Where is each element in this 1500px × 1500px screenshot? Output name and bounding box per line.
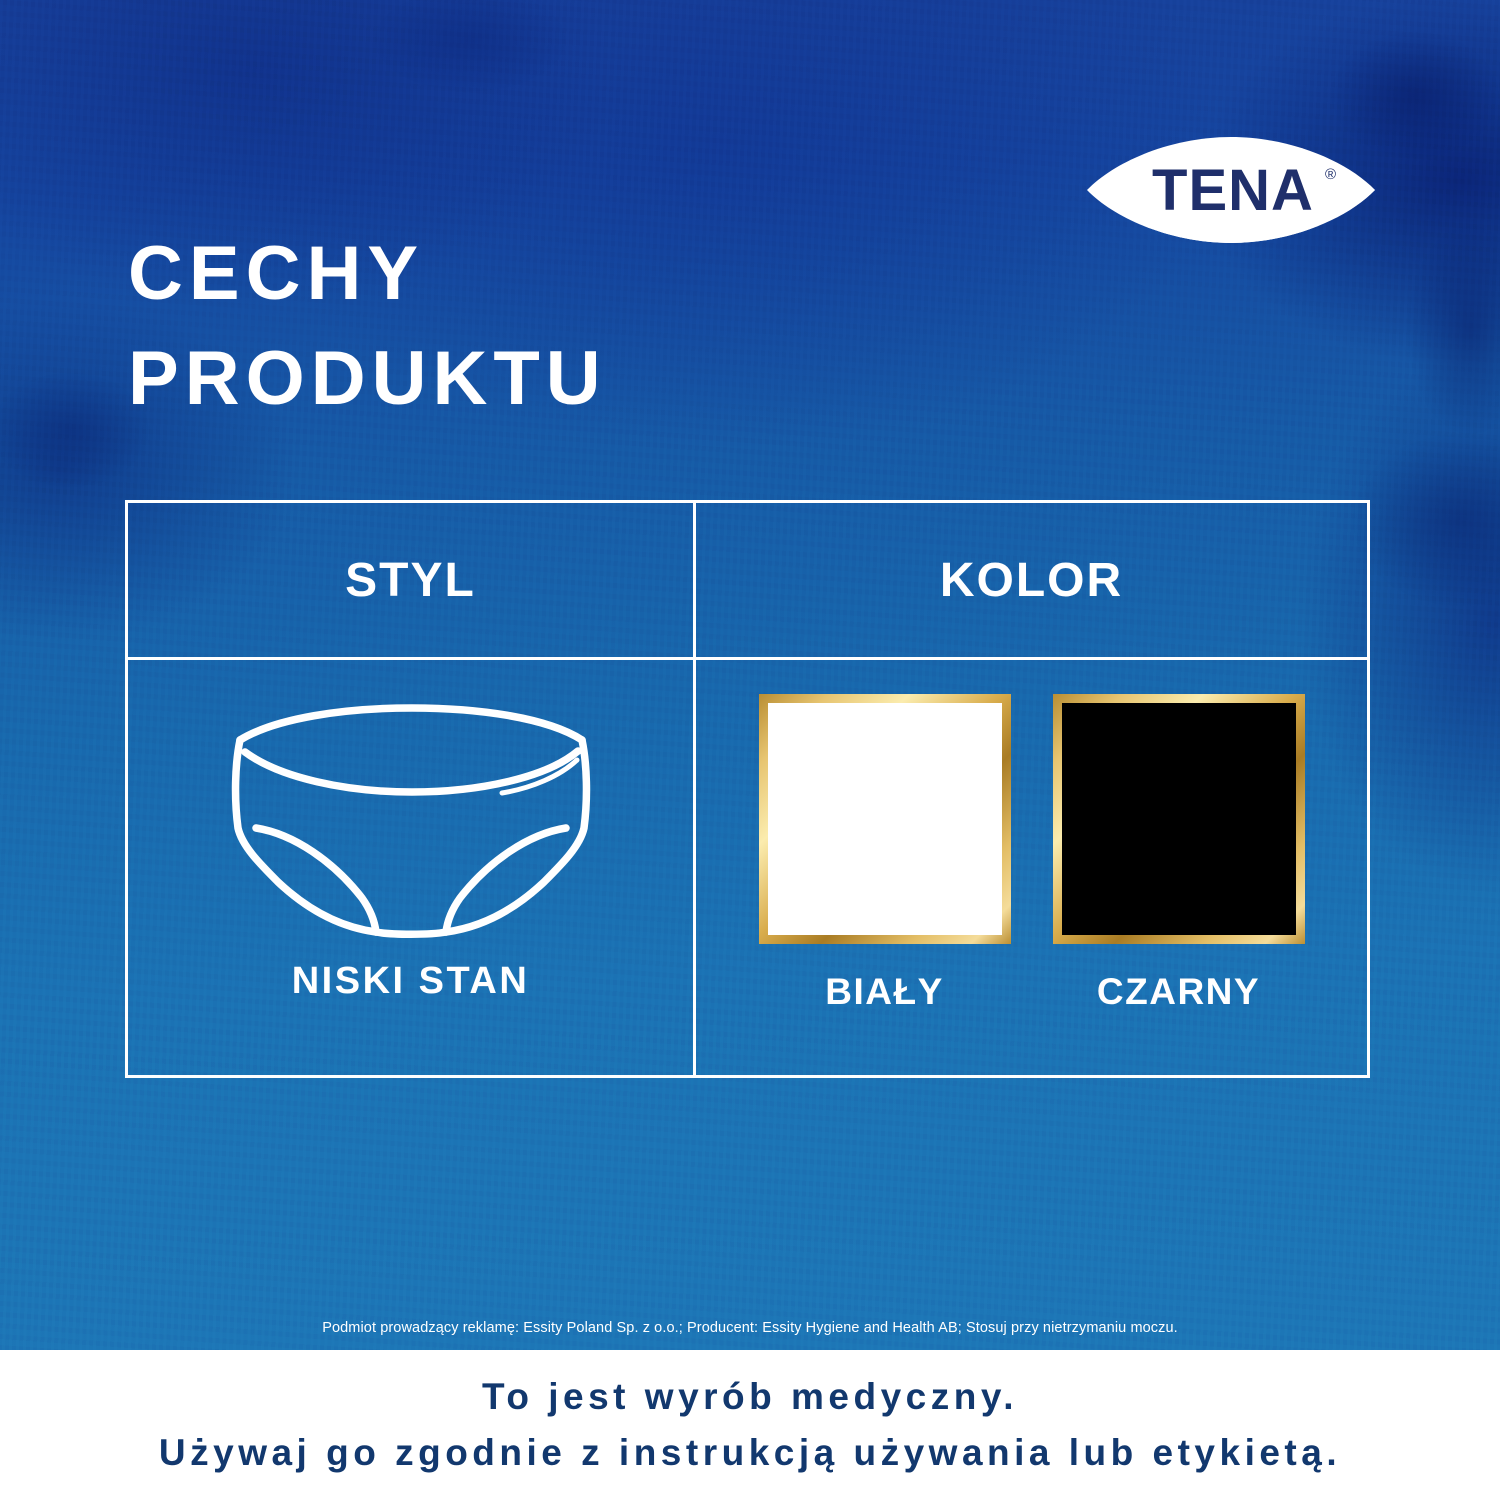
swatch-label-black: CZARNY <box>1097 971 1260 1013</box>
swatch-fill-white <box>768 703 1002 935</box>
tena-logo: TENA ® <box>1085 133 1377 247</box>
table-header-kolor-label: KOLOR <box>940 553 1123 608</box>
features-table: STYL KOLOR <box>125 500 1370 1078</box>
page-title-line1: CECHY <box>128 222 1028 327</box>
table-cell-kolor: BIAŁY CZARNY <box>696 660 1367 1075</box>
tena-logo-text: TENA <box>1152 158 1314 223</box>
legal-fineprint: Podmiot prowadzący reklamę: Essity Polan… <box>0 1320 1500 1336</box>
color-swatch-black[interactable]: CZARNY <box>1053 694 1305 1013</box>
disclaimer-line-1: To jest wyrób medyczny. <box>482 1369 1018 1425</box>
styl-caption: NISKI STAN <box>128 960 693 1003</box>
table-header-styl: STYL <box>128 503 693 657</box>
page-title: CECHY PRODUKTU <box>128 222 1028 432</box>
briefs-outline-icon <box>216 694 606 944</box>
swatch-fill-black <box>1062 703 1296 935</box>
table-header-kolor: KOLOR <box>696 503 1367 657</box>
color-swatch-list: BIAŁY CZARNY <box>696 694 1367 1013</box>
tena-logo-trademark: ® <box>1325 166 1336 183</box>
table-cell-styl: NISKI STAN <box>128 660 693 1075</box>
swatch-frame-black <box>1053 694 1305 944</box>
poster-canvas: TENA ® CECHY PRODUKTU STYL KOLOR <box>0 0 1500 1500</box>
swatch-label-white: BIAŁY <box>825 971 944 1013</box>
disclaimer-line-2: Używaj go zgodnie z instrukcją używania … <box>159 1425 1341 1481</box>
swatch-frame-white <box>759 694 1011 944</box>
color-swatch-white[interactable]: BIAŁY <box>759 694 1011 1013</box>
table-header-styl-label: STYL <box>345 553 476 608</box>
page-title-line2: PRODUKTU <box>128 327 1028 432</box>
medical-disclaimer-band: To jest wyrób medyczny. Używaj go zgodni… <box>0 1350 1500 1500</box>
